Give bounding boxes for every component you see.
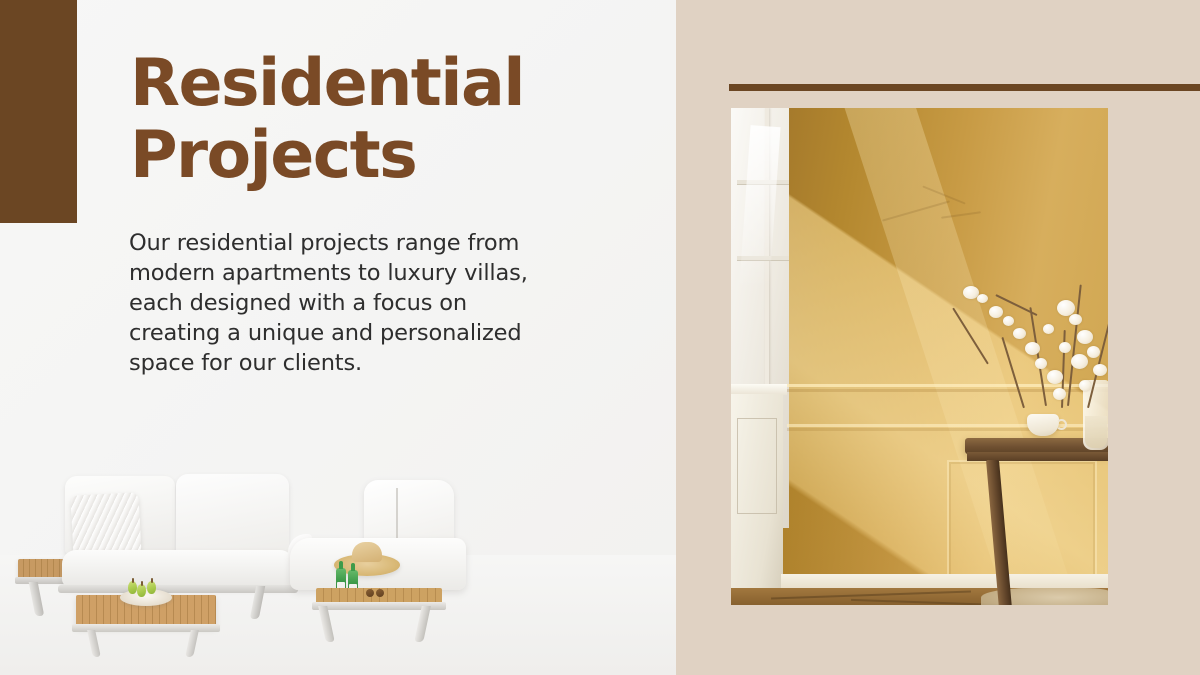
body-paragraph: Our residential projects range from mode… <box>129 228 549 378</box>
pear-fruit <box>137 584 146 597</box>
furniture-scene-image <box>0 425 676 675</box>
pear-fruit <box>128 581 137 594</box>
sunglasses <box>366 589 384 597</box>
title-line-1: Residential <box>130 48 600 120</box>
page-title: Residential Projects <box>130 48 600 192</box>
modular-daybed-right <box>288 476 488 661</box>
corner-accent-bar <box>0 0 77 223</box>
daybed-leg-right <box>414 606 431 642</box>
sofa-back-cushion-right <box>176 474 289 554</box>
coffee-table-leg-right <box>185 630 199 657</box>
photo-cabinet-panel-line <box>737 418 777 514</box>
slide-canvas: Residential Projects Our residential pro… <box>0 0 1200 675</box>
photo-branch-shadow <box>881 180 1001 240</box>
sofa-leg-left <box>29 582 45 616</box>
photo-vase-water <box>1085 416 1107 448</box>
photo-dried-flowers <box>927 284 1108 414</box>
teak-coffee-table <box>72 575 224 657</box>
photo-side-cabinet <box>731 394 783 594</box>
pear-fruit <box>147 581 156 594</box>
sunglasses-lens-right <box>376 589 384 597</box>
interior-photo <box>731 108 1108 605</box>
title-line-2: Projects <box>130 120 600 192</box>
left-content-panel: Residential Projects Our residential pro… <box>0 0 676 675</box>
throw-pillow <box>70 492 141 557</box>
photo-coffee-cup-handle <box>1056 419 1067 430</box>
sunglasses-lens-left <box>366 589 374 597</box>
coffee-table-leg-left <box>87 630 101 657</box>
accent-rule <box>729 84 1200 91</box>
straw-hat-crown <box>352 542 382 562</box>
daybed-leg-left <box>318 606 335 642</box>
photo-wall-panel-inset <box>947 460 1097 590</box>
